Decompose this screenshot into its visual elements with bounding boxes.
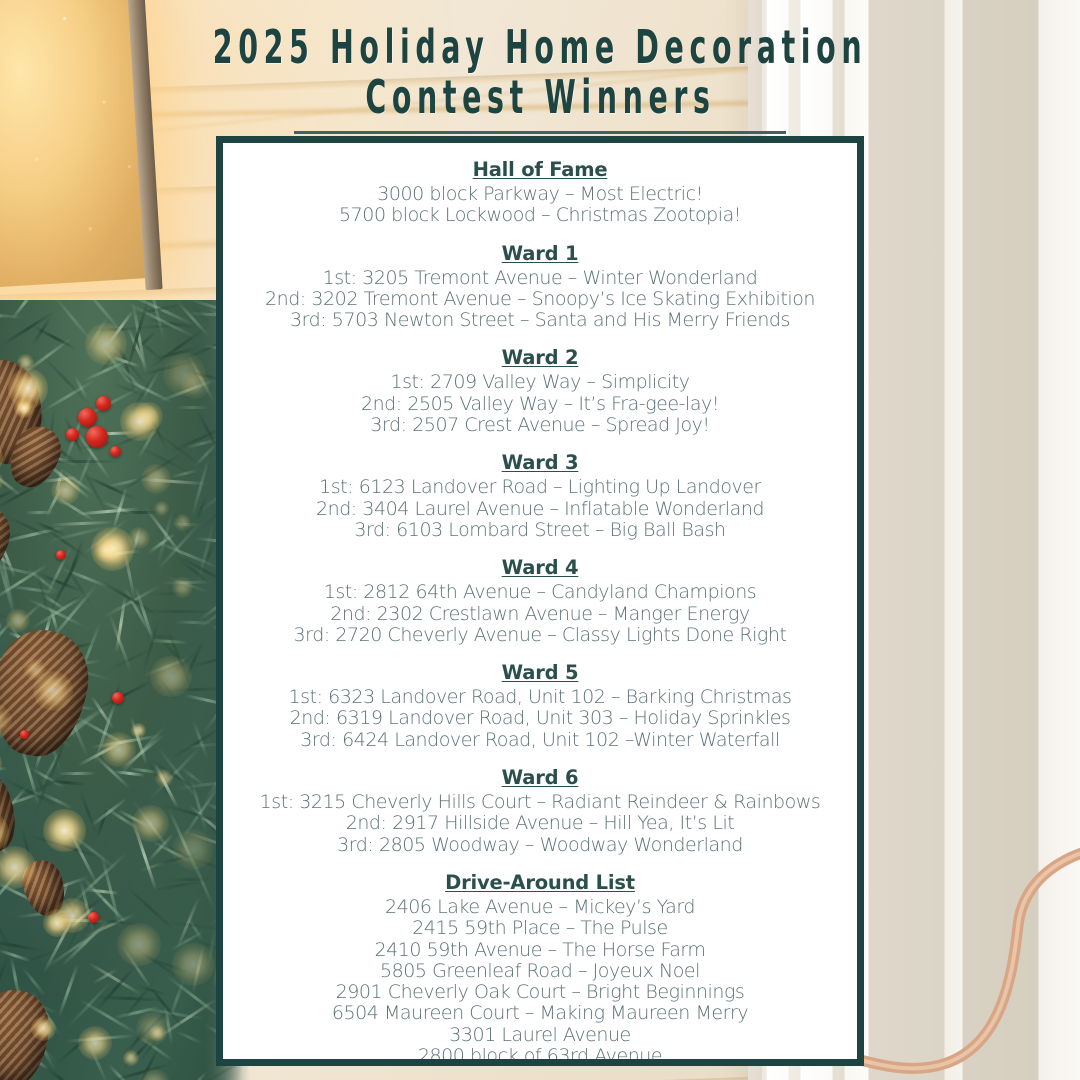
string-light	[172, 829, 214, 871]
winner-entry: 1st: 3215 Cheverly Hills Court – Radiant…	[233, 792, 847, 813]
winners-section: Ward 31st: 6123 Landover Road – Lighting…	[233, 450, 847, 541]
holly-berry-icon	[96, 396, 111, 411]
winner-entry: 2nd: 6319 Landover Road, Unit 303 – Holi…	[233, 708, 847, 729]
winner-entry: 1st: 3205 Tremont Avenue – Winter Wonder…	[233, 268, 847, 289]
string-light	[132, 805, 169, 842]
title-line-2: Contest Winners	[365, 72, 715, 122]
garland-needle	[57, 963, 78, 1017]
section-heading: Hall of Fame	[233, 157, 847, 183]
winner-entry: 3rd: 2720 Cheverly Avenue – Classy Light…	[233, 625, 847, 646]
winners-section: Ward 61st: 3215 Cheverly Hills Court – R…	[233, 765, 847, 856]
string-light	[101, 732, 136, 767]
section-heading: Ward 1	[233, 241, 847, 267]
garland-needle	[176, 1030, 203, 1044]
winners-card: Hall of Fame3000 block Parkway – Most El…	[216, 136, 864, 1066]
section-heading: Ward 6	[233, 765, 847, 791]
winners-section: Hall of Fame3000 block Parkway – Most El…	[233, 157, 847, 227]
holly-berry-icon	[66, 428, 79, 441]
garland-needle	[67, 981, 112, 1028]
garland-needle	[150, 639, 188, 644]
winner-entry: 6504 Maureen Court – Making Maureen Merr…	[233, 1003, 847, 1024]
section-heading: Drive-Around List	[233, 870, 847, 896]
string-light	[94, 539, 117, 562]
winner-entry: 3rd: 2805 Woodway – Woodway Wonderland	[233, 835, 847, 856]
winner-entry: 1st: 2709 Valley Way – Simplicity	[233, 372, 847, 393]
winner-entry: 1st: 2812 64th Avenue – Candyland Champi…	[233, 582, 847, 603]
holly-berry-icon	[86, 426, 108, 448]
holly-berry-icon	[110, 446, 121, 457]
garland-needle	[176, 406, 209, 409]
winner-entry: 2901 Cheverly Oak Court – Bright Beginni…	[233, 982, 847, 1003]
winner-entry: 2410 59th Avenue – The Horse Farm	[233, 940, 847, 961]
string-light	[117, 923, 161, 967]
string-light	[24, 659, 45, 680]
garland-needle	[46, 1067, 74, 1080]
holly-berry-icon	[78, 408, 97, 427]
section-heading: Ward 5	[233, 660, 847, 686]
winner-entry: 3rd: 6103 Lombard Street – Big Ball Bash	[233, 520, 847, 541]
poster-canvas: 2025 Holiday Home Decoration Contest Win…	[0, 0, 1080, 1080]
string-light	[31, 1016, 56, 1041]
string-light	[131, 723, 146, 738]
garland-needle	[152, 879, 207, 891]
winner-entry: 2nd: 2917 Hillside Avenue – Hill Yea, It…	[233, 813, 847, 834]
winner-entry: 2406 Lake Avenue – Mickey’s Yard	[233, 897, 847, 918]
holly-berry-icon	[56, 550, 66, 560]
section-heading: Ward 3	[233, 450, 847, 476]
string-light	[155, 769, 173, 787]
page-title: 2025 Holiday Home Decoration Contest Win…	[0, 22, 1080, 134]
winner-entry: 3rd: 6424 Landover Road, Unit 102 –Winte…	[233, 730, 847, 751]
title-line-1: 2025 Holiday Home Decoration	[205, 22, 875, 72]
winner-entry: 1st: 6323 Landover Road, Unit 102 – Bark…	[233, 687, 847, 708]
holly-berry-icon	[20, 730, 29, 739]
string-light	[141, 464, 171, 494]
section-heading: Ward 2	[233, 345, 847, 371]
winner-entry: 2800 block of 63rd Avenue	[233, 1046, 847, 1066]
winners-section: Ward 11st: 3205 Tremont Avenue – Winter …	[233, 241, 847, 332]
winner-entry: 1st: 6123 Landover Road – Lighting Up La…	[233, 477, 847, 498]
garland-needle	[181, 1071, 207, 1080]
winner-entry: 2nd: 3404 Laurel Avenue – Inflatable Won…	[233, 499, 847, 520]
string-light	[150, 656, 192, 698]
winner-entry: 3000 block Parkway – Most Electric!	[233, 184, 847, 205]
winner-entry: 2nd: 2302 Crestlawn Avenue – Manger Ener…	[233, 604, 847, 625]
string-light	[78, 1026, 112, 1060]
winner-entry: 3rd: 2507 Crest Avenue – Spread Joy!	[233, 415, 847, 436]
garland-needle	[33, 563, 52, 624]
winners-section: Ward 41st: 2812 64th Avenue – Candyland …	[233, 555, 847, 646]
winner-entry: 2nd: 3202 Tremont Avenue – Snoopy’s Ice …	[233, 289, 847, 310]
string-light	[85, 323, 127, 365]
winners-section: Ward 51st: 6323 Landover Road, Unit 102 …	[233, 660, 847, 751]
string-light	[174, 514, 191, 531]
winner-entry: 5805 Greenleaf Road – Joyeux Noel	[233, 961, 847, 982]
string-light	[43, 809, 85, 851]
string-light	[123, 1050, 139, 1066]
string-light	[149, 1025, 165, 1041]
string-light	[14, 398, 34, 418]
string-light	[181, 370, 210, 399]
string-light	[172, 943, 215, 986]
string-light	[51, 476, 80, 505]
title-underline	[294, 131, 786, 134]
winners-list: Hall of Fame3000 block Parkway – Most El…	[223, 157, 857, 1066]
winner-entry: 2415 59th Place – The Pulse	[233, 918, 847, 939]
winners-section: Drive-Around List2406 Lake Avenue – Mick…	[233, 870, 847, 1066]
section-heading: Ward 4	[233, 555, 847, 581]
winner-entry: 3rd: 5703 Newton Street – Santa and His …	[233, 310, 847, 331]
garland-needle	[51, 520, 114, 525]
winner-entry: 2nd: 2505 Valley Way – It’s Fra-gee-lay!	[233, 394, 847, 415]
winner-entry: 3301 Laurel Avenue	[233, 1025, 847, 1046]
string-light	[43, 909, 71, 937]
string-light	[6, 609, 30, 633]
winners-section: Ward 21st: 2709 Valley Way – Simplicity2…	[233, 345, 847, 436]
winner-entry: 5700 block Lockwood – Christmas Zootopia…	[233, 205, 847, 226]
holly-berry-icon	[112, 692, 124, 704]
